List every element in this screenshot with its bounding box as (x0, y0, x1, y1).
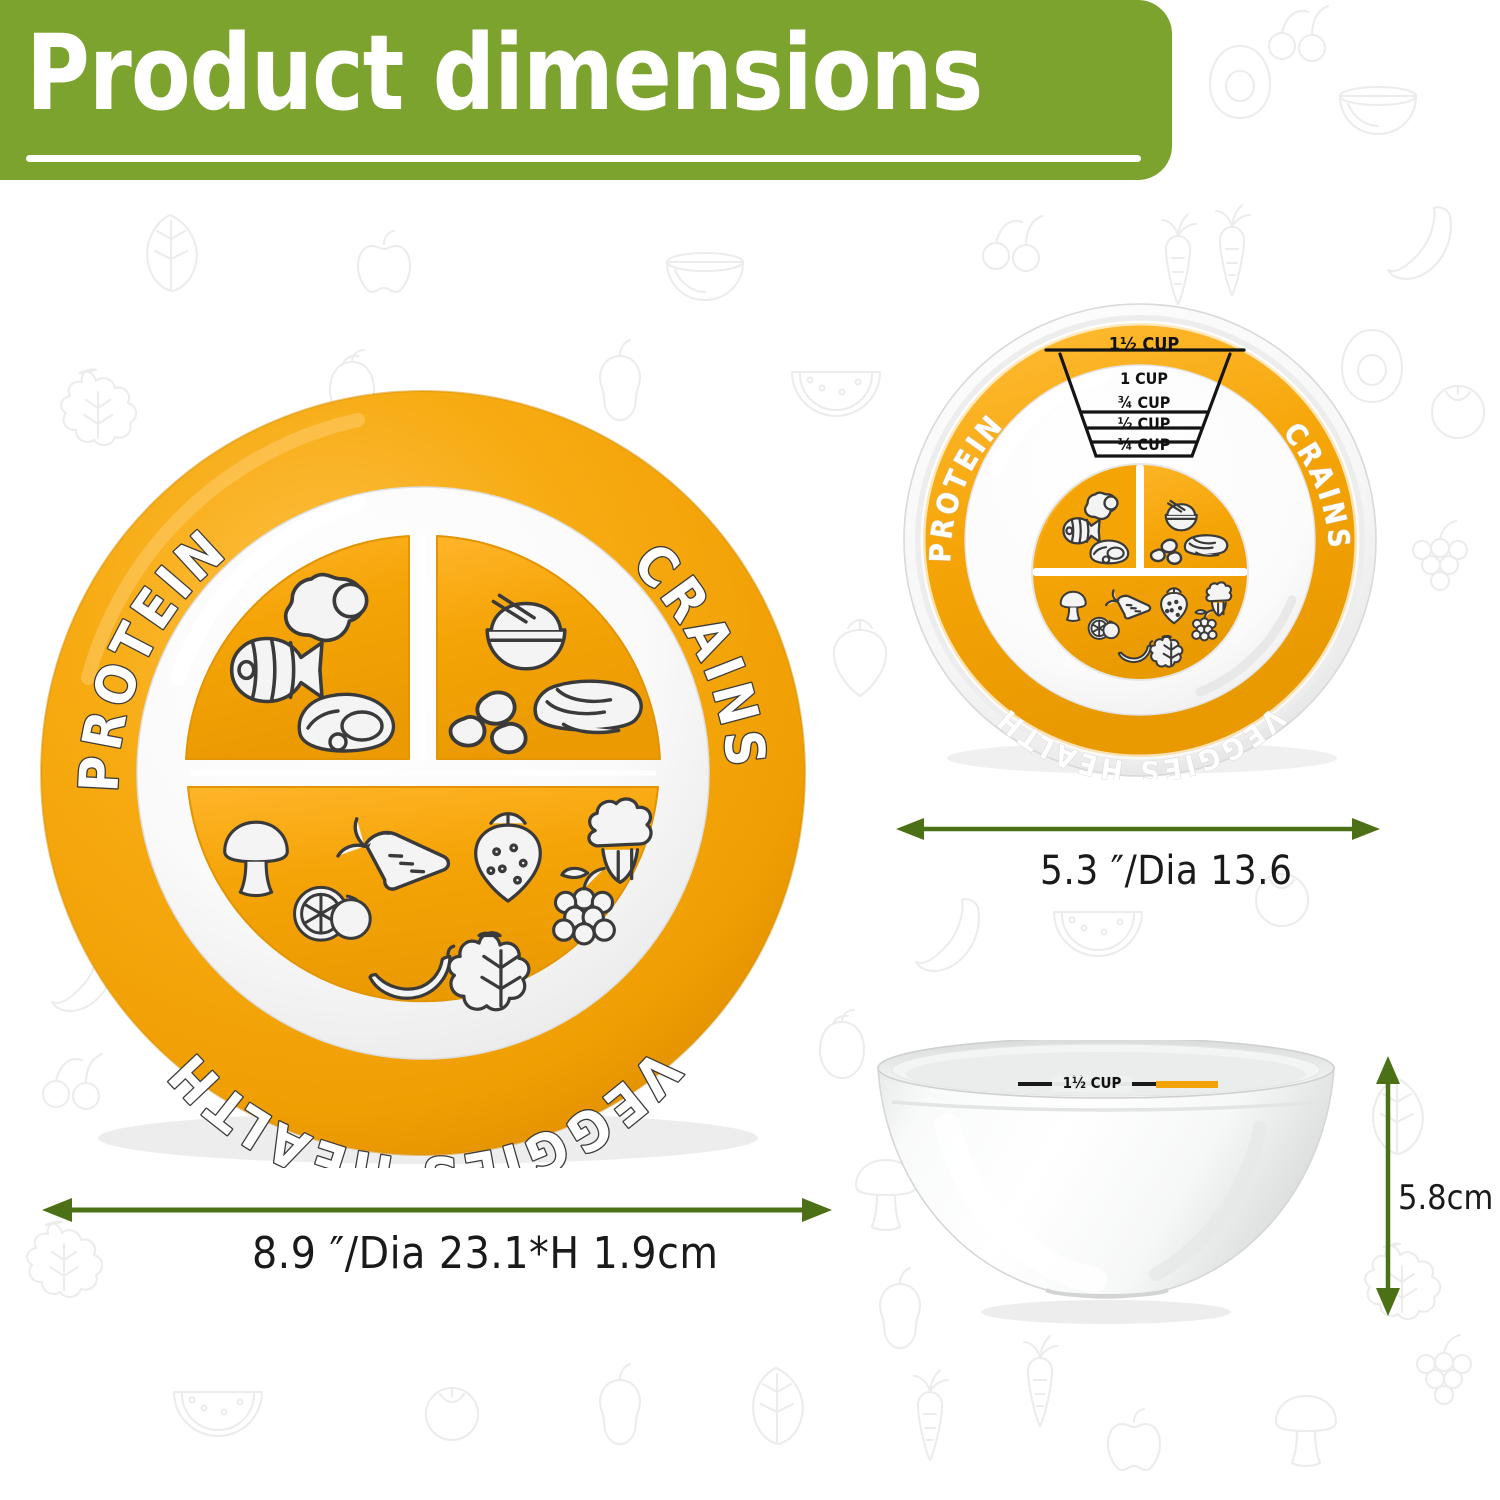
cup-label-1: 1 CUP (1120, 369, 1168, 388)
bread-loaf-icon (535, 681, 641, 732)
header-banner: Product dimensions (0, 0, 1172, 180)
steak-icon (299, 694, 393, 751)
bowl-height-dimension-label: 5.8cm (1398, 1178, 1493, 1218)
bowl-diameter-dimension-label: 5.3 ″/Dia 13.6 (1040, 848, 1293, 894)
cup-label-three-quarter: ¾ CUP (1118, 393, 1171, 412)
steak-icon (1090, 541, 1128, 564)
cup-label-quarter: ¼ CUP (1118, 435, 1171, 454)
plate-width-dimension-arrow (42, 1196, 832, 1224)
plate-dimension-label: 8.9 ″/Dia 23.1*H 1.9cm (252, 1228, 718, 1279)
page-title: Product dimensions (26, 10, 982, 137)
bowl-center-divided-circle (1032, 464, 1248, 680)
bowl-cup-labels: 1½ CUP 1 CUP ¾ CUP ½ CUP ¼ CUP (1109, 334, 1180, 454)
bowl-diameter-dimension-arrow (896, 816, 1380, 842)
bread-loaf-icon (1185, 535, 1227, 556)
bowl-side-cup-label-top: 1½ CUP (1063, 1074, 1122, 1092)
header-underline (26, 155, 1141, 162)
bowl-side-body (878, 1068, 1334, 1298)
divided-portion-plate-top-view: PROTEIN CRAINS VEGGIES HEALTH (28, 378, 818, 1168)
portion-control-bowl-side-view: 1½ CUP 1½ CUP (856, 1040, 1366, 1330)
cup-label-half: ½ CUP (1118, 414, 1171, 433)
portion-control-bowl-top-view: 1½ CUP 1 CUP ¾ CUP ½ CUP ¼ CUP (900, 300, 1380, 780)
